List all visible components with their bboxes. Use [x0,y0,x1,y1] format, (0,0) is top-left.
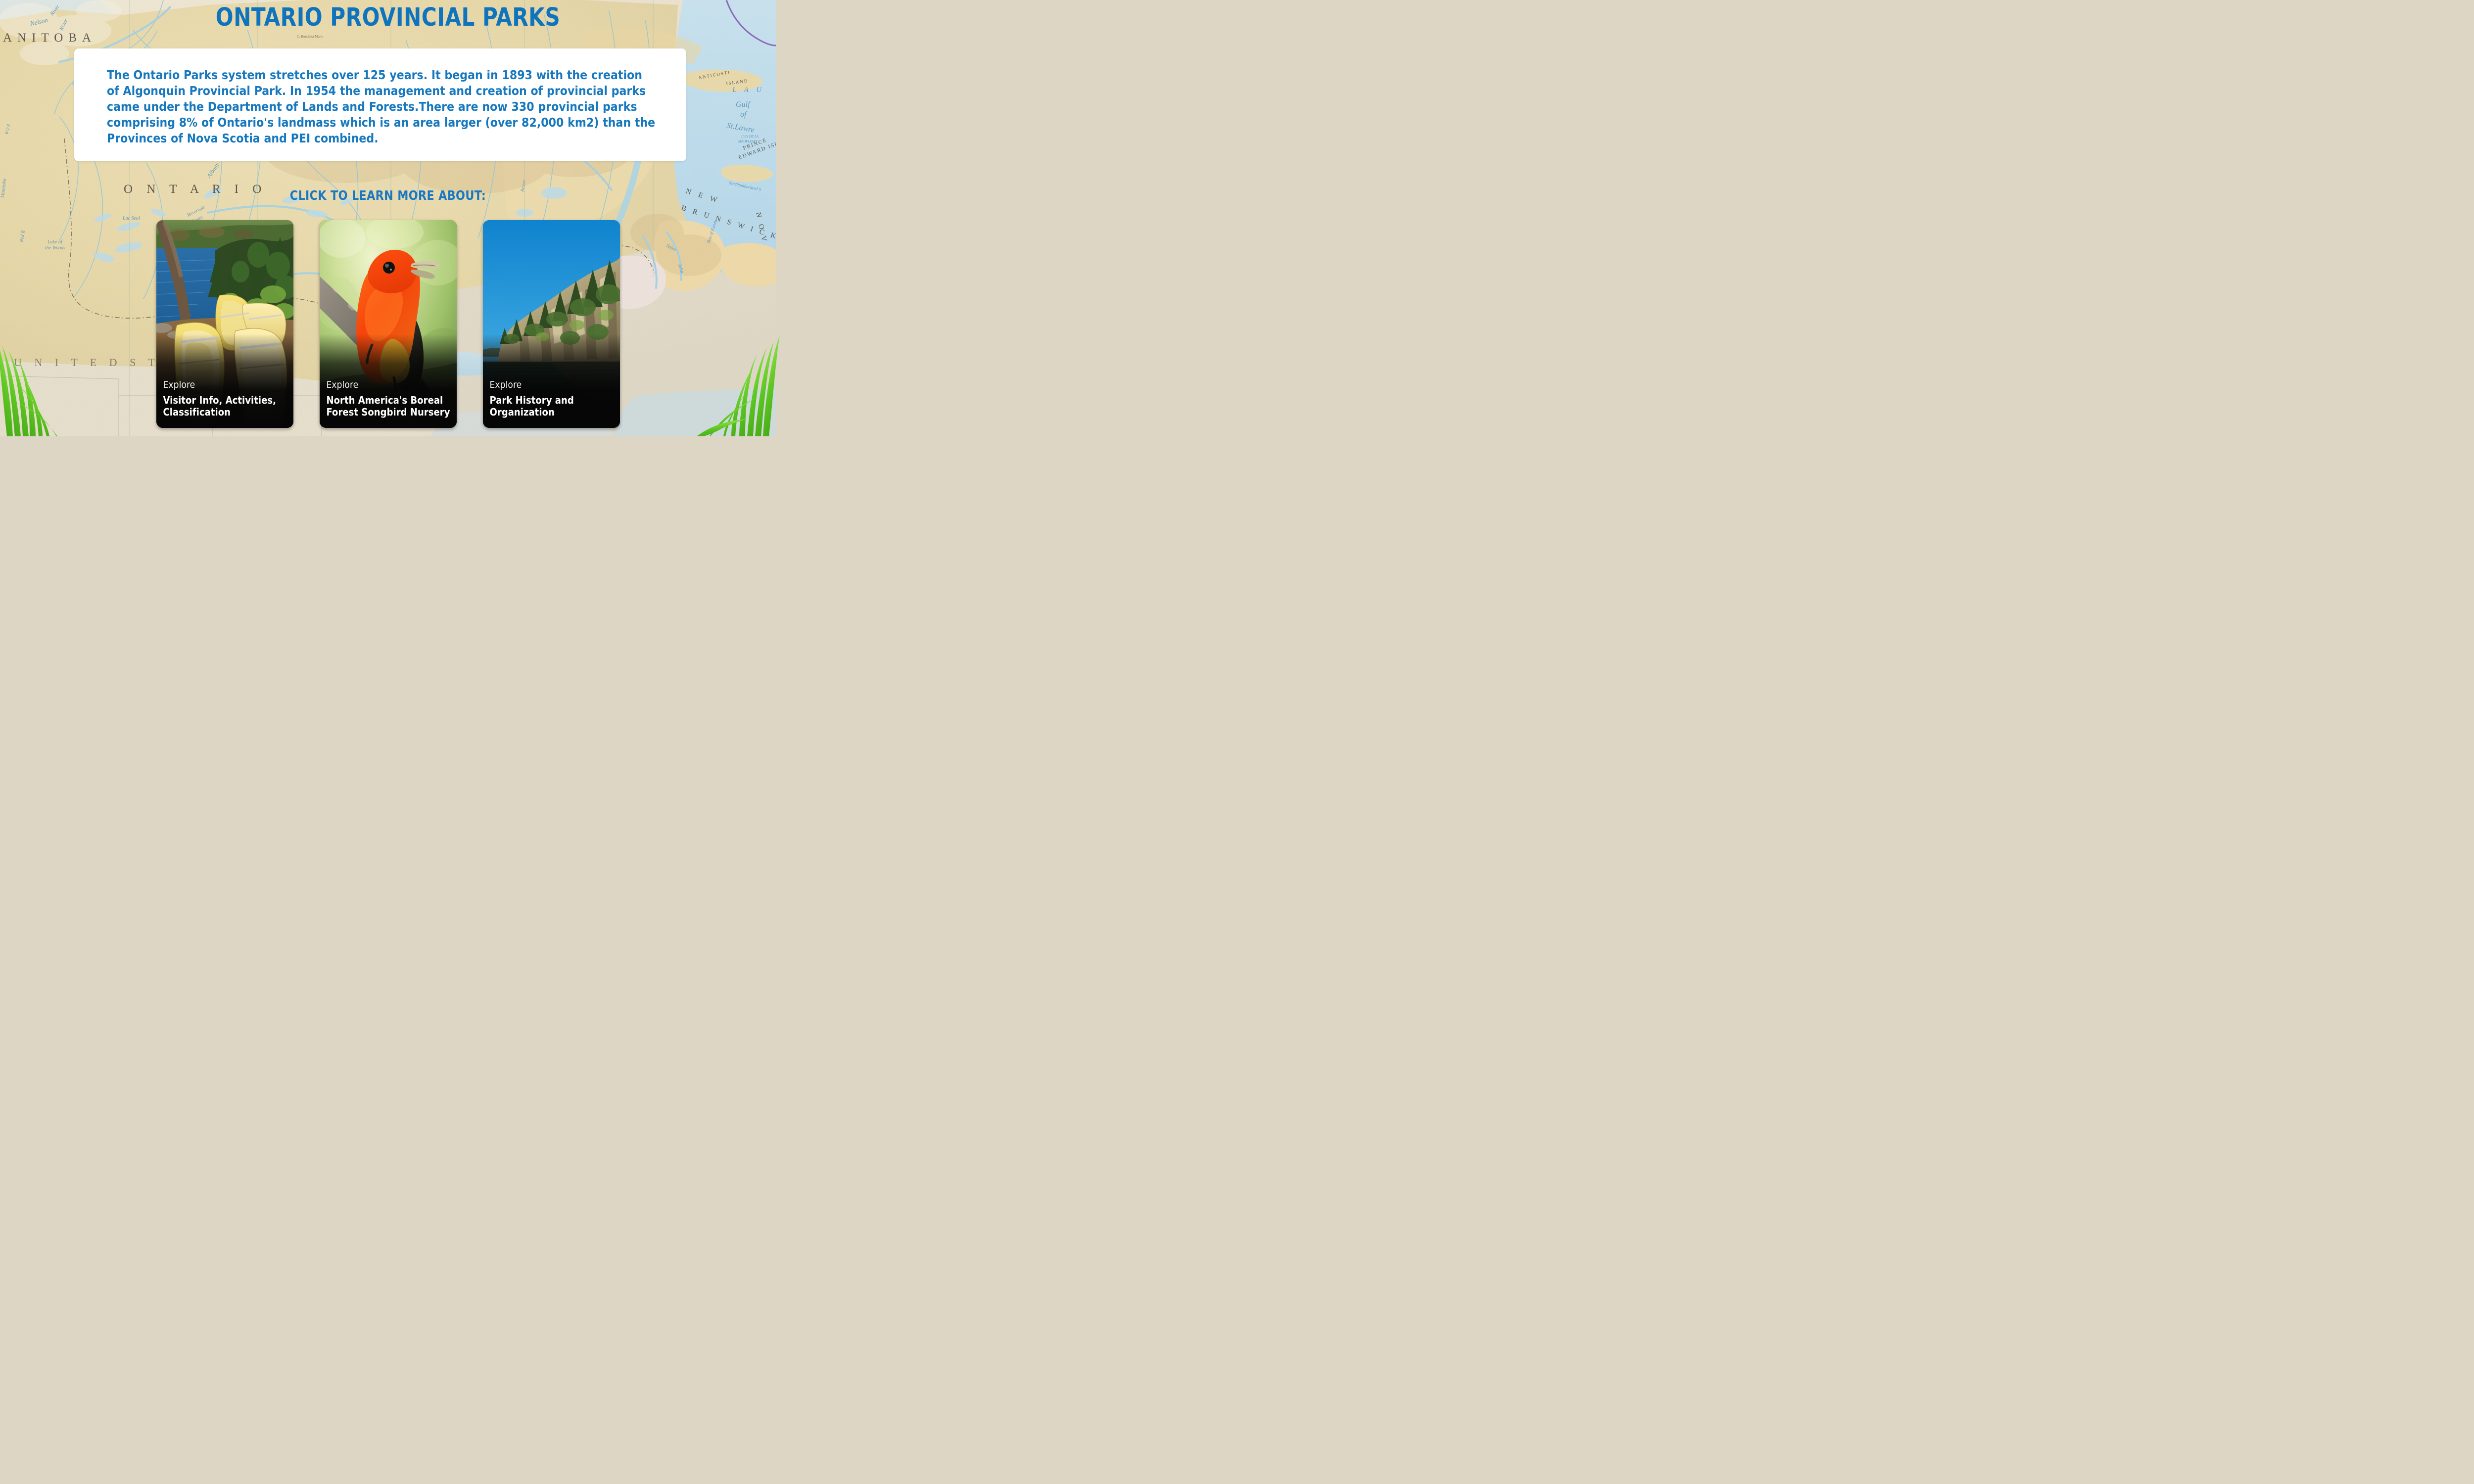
section-subheading: CLICK TO LEARN MORE ABOUT: [19,188,757,203]
card-eyebrow: Explore [327,379,451,391]
card-heading: Visitor Info, Activities, Classification [163,395,287,418]
explore-card-songbird[interactable]: Explore North America's Boreal Forest So… [320,220,457,428]
page-title: ONTARIO PROVINCIAL PARKS [31,3,745,32]
explore-card-park-history[interactable]: Explore Park History and Organization [483,220,620,428]
intro-panel: The Ontario Parks system stretches over … [74,48,686,161]
explore-card-visitor-info[interactable]: Explore Visitor Info, Activities, Classi… [156,220,293,428]
card-caption: Explore North America's Boreal Forest So… [327,379,451,418]
card-caption: Explore Visitor Info, Activities, Classi… [163,379,287,418]
explore-card-grid: Explore Visitor Info, Activities, Classi… [0,220,776,428]
card-eyebrow: Explore [163,379,287,391]
card-eyebrow: Explore [490,379,614,391]
card-caption: Explore Park History and Organization [490,379,614,418]
card-heading: Park History and Organization [490,395,614,418]
card-heading: North America's Boreal Forest Songbird N… [327,395,451,418]
intro-paragraph: The Ontario Parks system stretches over … [107,67,658,146]
